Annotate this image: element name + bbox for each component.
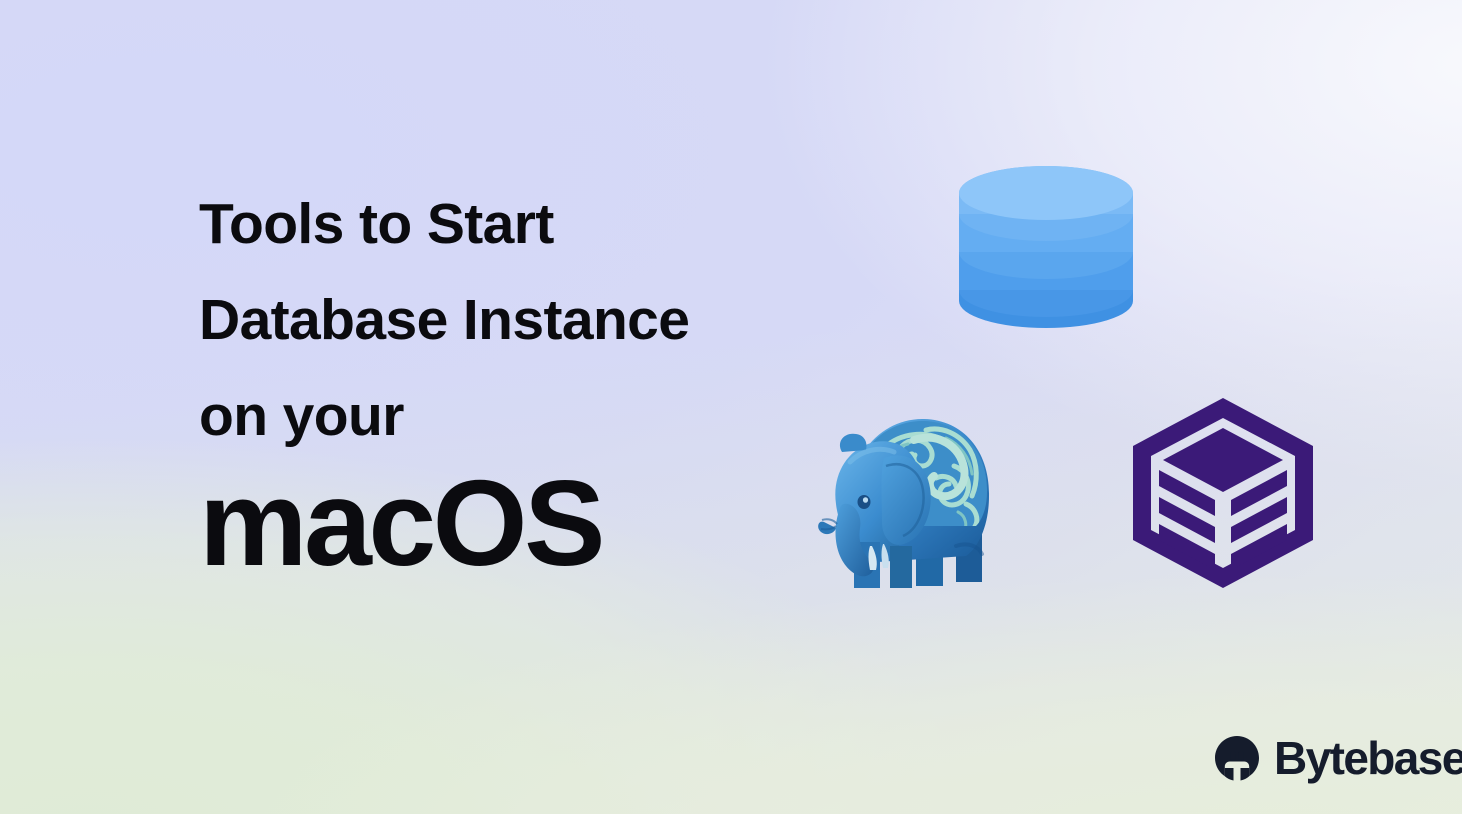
- bytebase-logo[interactable]: Bytebase: [1213, 729, 1462, 787]
- bytebase-wordmark: Bytebase: [1274, 735, 1462, 781]
- headline-block: Tools to Start Database Instance on your…: [199, 176, 899, 586]
- banner: Tools to Start Database Instance on your…: [0, 0, 1462, 814]
- headline-line-3: on your: [199, 368, 899, 464]
- database-cylinder-icon: [959, 166, 1133, 328]
- headline-line-4: macOS: [199, 460, 899, 586]
- headline-line-2: Database Instance: [199, 272, 899, 368]
- headline-line-1: Tools to Start: [199, 176, 899, 272]
- bytebase-mark-icon: [1213, 734, 1261, 782]
- hexagon-cube-logo: [1133, 398, 1313, 588]
